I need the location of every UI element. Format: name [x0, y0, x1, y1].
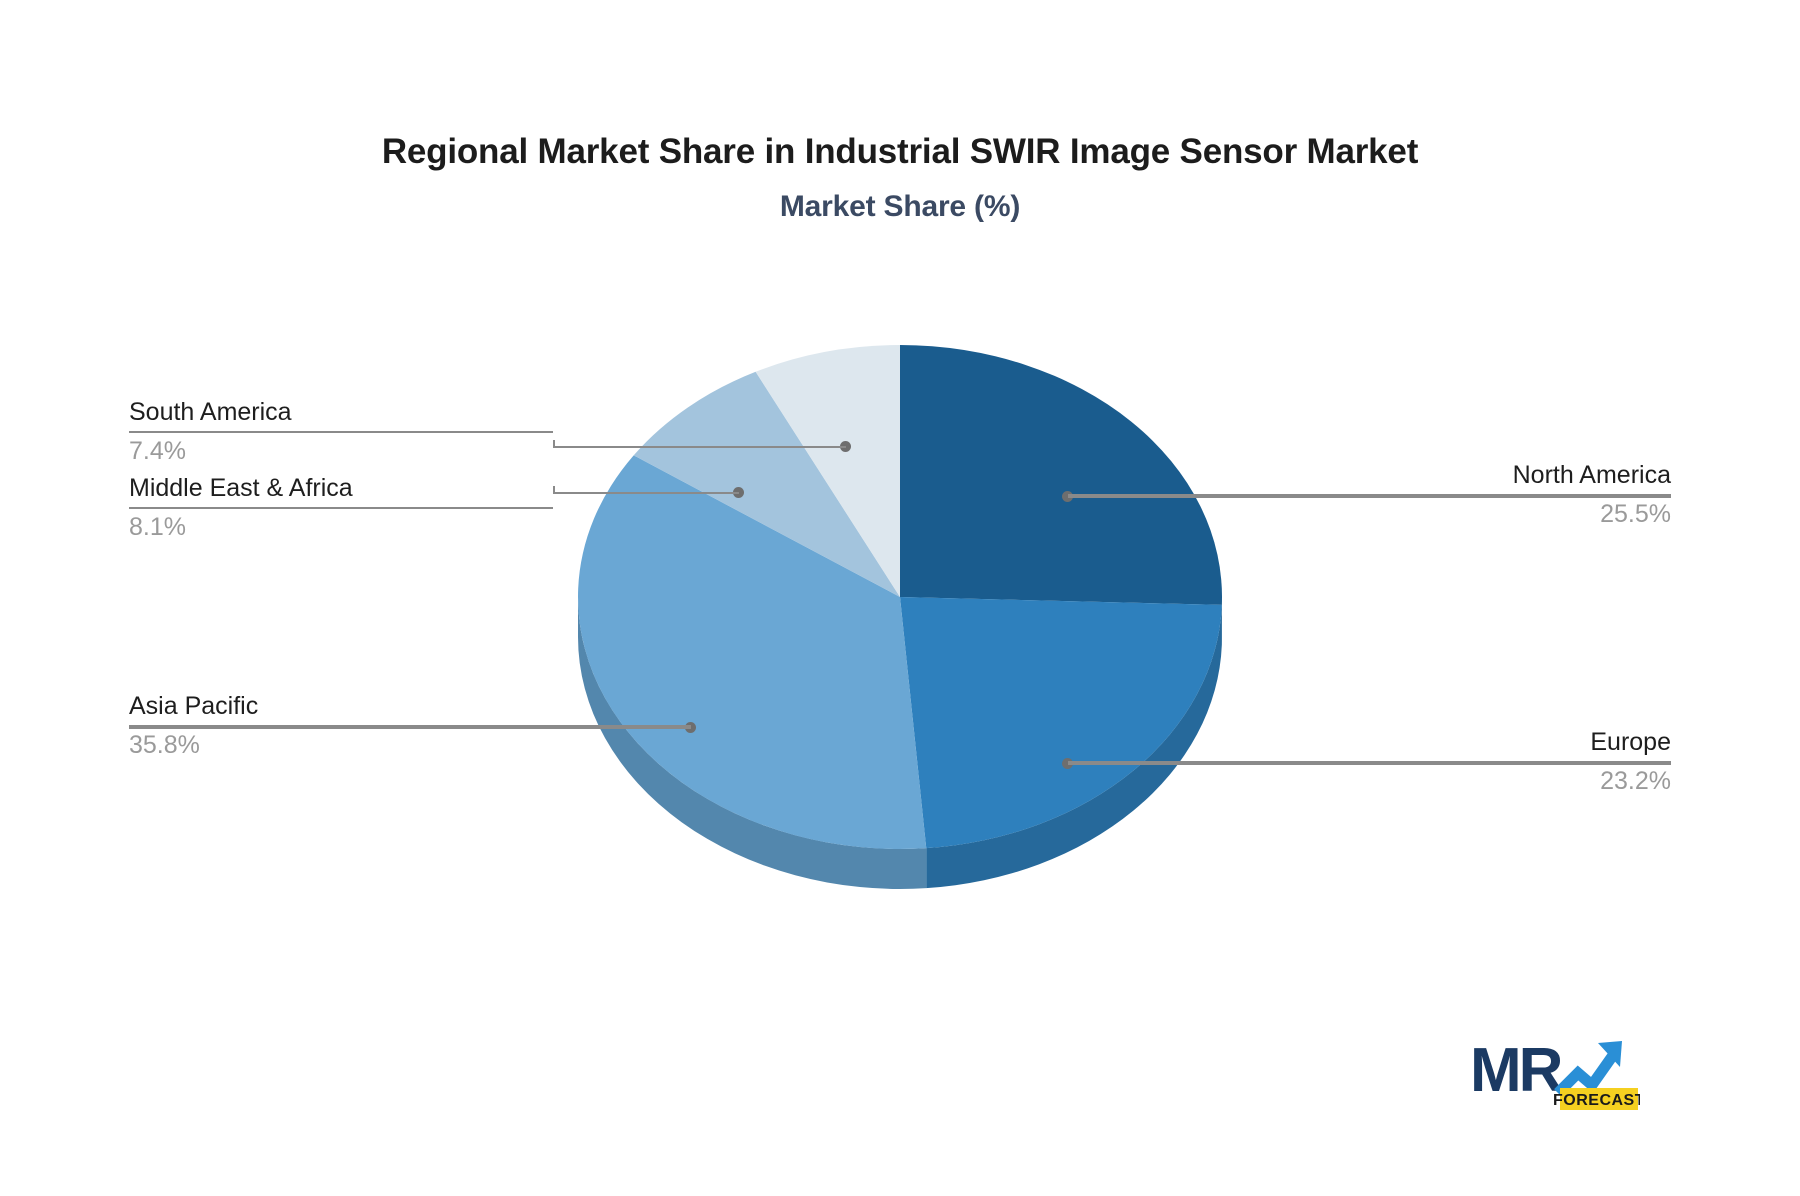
connector-elbow-middle-east-africa	[553, 486, 555, 494]
callout-value-south-america: 7.4%	[129, 435, 553, 467]
connector-line-south-america	[553, 446, 846, 448]
callout-rule-north-america	[1068, 494, 1671, 496]
callout-label-europe: Europe	[1068, 726, 1671, 758]
callout-label-north-america: North America	[1068, 459, 1671, 491]
callout-asia-pacific: Asia Pacific 35.8%	[129, 690, 691, 761]
callout-value-middle-east-africa: 8.1%	[129, 511, 553, 543]
callout-label-asia-pacific: Asia Pacific	[129, 690, 691, 722]
trend-arrow-icon	[1558, 1041, 1622, 1093]
callout-value-north-america: 25.5%	[1068, 498, 1671, 530]
callout-label-middle-east-africa: Middle East & Africa	[129, 472, 553, 504]
connector-line-middle-east-africa	[553, 492, 739, 494]
callout-value-europe: 23.2%	[1068, 765, 1671, 797]
chart-subtitle: Market Share (%)	[0, 190, 1800, 224]
callout-north-america: North America 25.5%	[1068, 459, 1671, 530]
callout-europe: Europe 23.2%	[1068, 726, 1671, 797]
callout-rule-south-america	[129, 431, 553, 433]
callout-rule-middle-east-africa	[129, 507, 553, 509]
connector-elbow-south-america	[553, 440, 555, 448]
mr-forecast-logo: MR FORECAST	[1470, 1025, 1640, 1120]
pie-chart	[545, 345, 1255, 905]
callout-label-south-america: South America	[129, 396, 553, 428]
callout-value-asia-pacific: 35.8%	[129, 729, 691, 761]
callout-rule-asia-pacific	[129, 725, 691, 727]
logo-wordmark: MR	[1470, 1036, 1563, 1105]
chart-canvas: Regional Market Share in Industrial SWIR…	[0, 0, 1800, 1196]
chart-title: Regional Market Share in Industrial SWIR…	[0, 132, 1800, 172]
callout-south-america: South America 7.4%	[129, 396, 553, 467]
logo-badge-label: FORECAST	[1553, 1092, 1640, 1109]
callout-middle-east-africa: Middle East & Africa 8.1%	[129, 472, 553, 543]
pie-slice-europe[interactable]	[900, 597, 1222, 848]
callout-rule-europe	[1068, 761, 1671, 763]
